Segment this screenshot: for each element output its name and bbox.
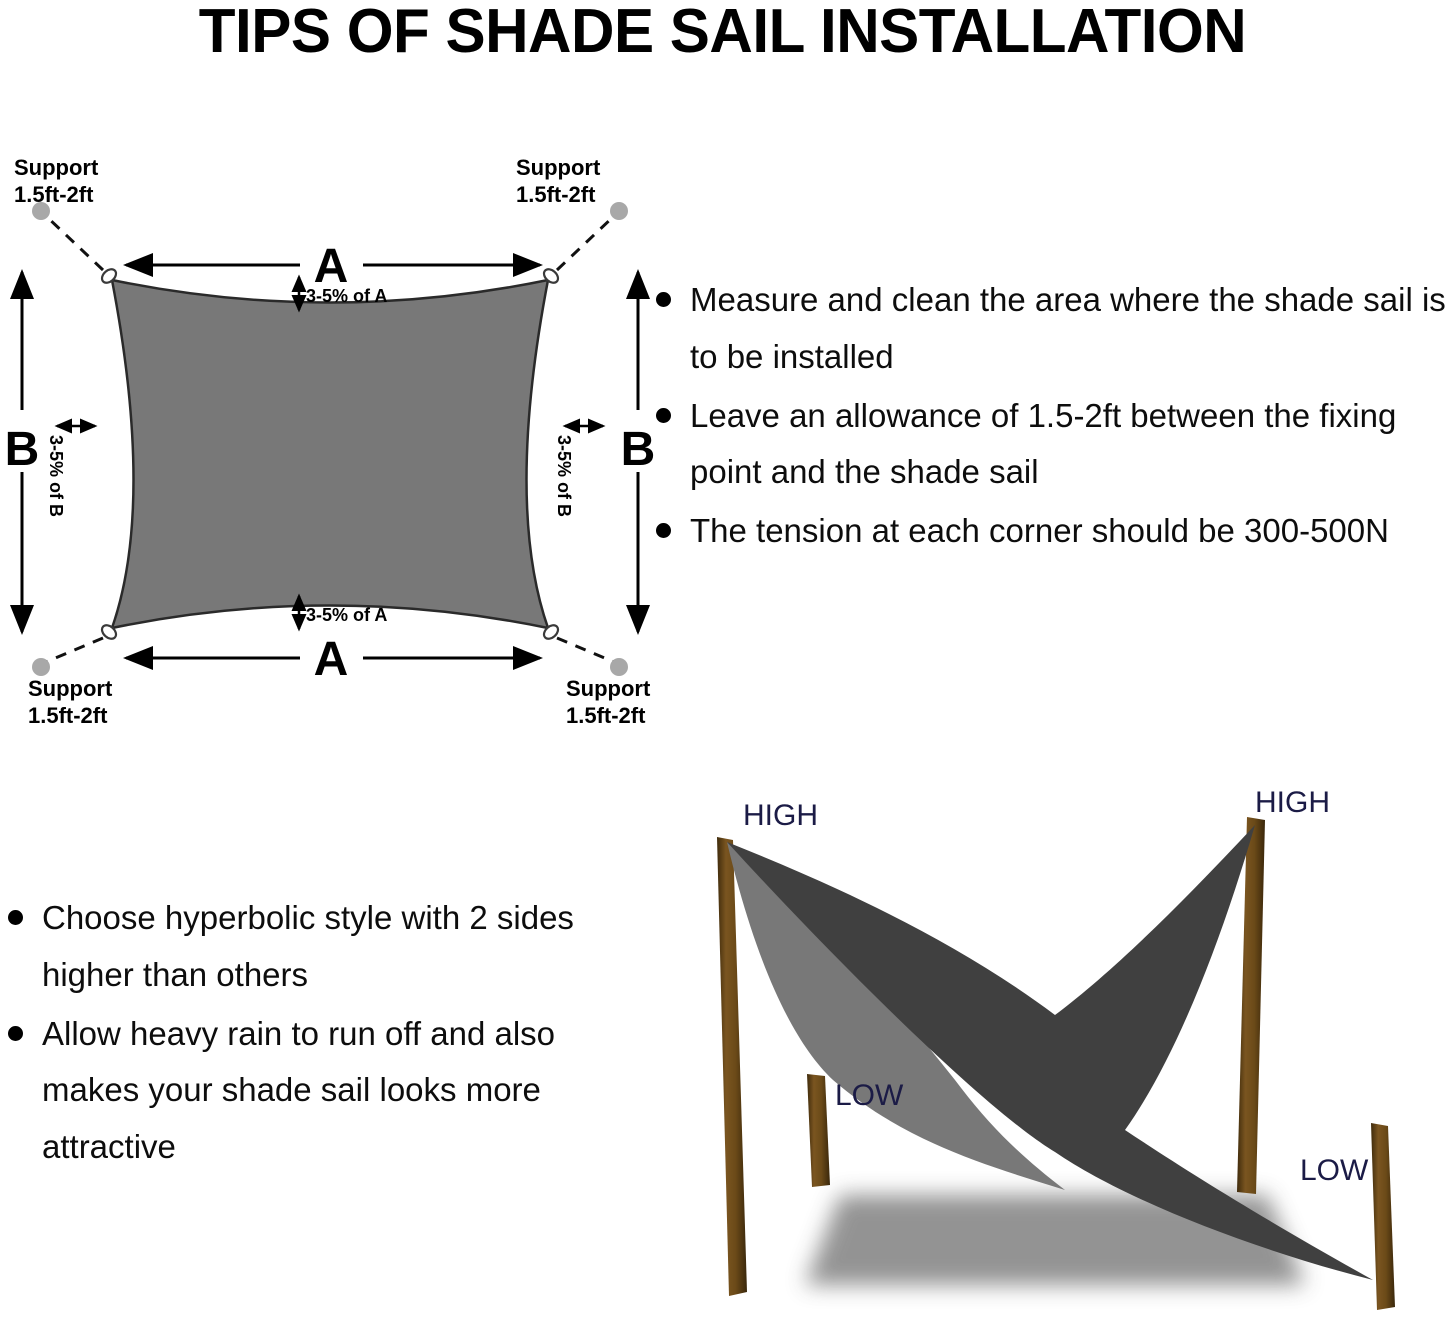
bullet-dot-icon bbox=[656, 408, 671, 423]
installation-tips-list-left: Choose hyperbolic style with 2 sides hig… bbox=[0, 890, 640, 1178]
bullet-dot-icon bbox=[656, 292, 671, 307]
list-item: Allow heavy rain to run off and also mak… bbox=[0, 1006, 640, 1176]
infographic-page: TIPS OF SHADE SAIL INSTALLATION bbox=[0, 0, 1445, 1319]
post-back-right bbox=[1368, 1123, 1397, 1310]
list-item-text: Allow heavy rain to run off and also mak… bbox=[42, 1015, 555, 1166]
shade-sail-dimension-diagram: Support 1.5ft-2ft Support 1.5ft-2ft Supp… bbox=[0, 150, 660, 740]
page-title: TIPS OF SHADE SAIL INSTALLATION bbox=[22, 0, 1424, 67]
list-item: Measure and clean the area where the sha… bbox=[648, 272, 1445, 386]
support-label-line2: 1.5ft-2ft bbox=[28, 703, 108, 728]
list-item: Choose hyperbolic style with 2 sides hig… bbox=[0, 890, 640, 1004]
hyperbolic-sail-illustration: HIGH HIGH LOW LOW bbox=[655, 780, 1445, 1319]
support-label-top-right: Support 1.5ft-2ft bbox=[516, 155, 601, 207]
list-item: The tension at each corner should be 300… bbox=[648, 503, 1445, 560]
support-label-line2: 1.5ft-2ft bbox=[14, 182, 94, 207]
support-label-line1: Support bbox=[566, 676, 651, 701]
list-item-text: Measure and clean the area where the sha… bbox=[690, 281, 1445, 375]
label-high-left: HIGH bbox=[743, 799, 818, 832]
support-label-line1: Support bbox=[14, 155, 99, 180]
support-label-top-left: Support 1.5ft-2ft bbox=[14, 155, 99, 207]
curve-depth-label-right: 3-5% of B bbox=[554, 435, 574, 517]
dimension-b-left: B bbox=[5, 272, 40, 632]
label-low-left: LOW bbox=[835, 1079, 904, 1112]
label-low-right: LOW bbox=[1300, 1154, 1369, 1187]
support-label-line1: Support bbox=[516, 155, 601, 180]
support-label-bottom-left: Support 1.5ft-2ft bbox=[28, 676, 113, 728]
installation-tips-list-right: Measure and clean the area where the sha… bbox=[648, 272, 1445, 562]
curve-depth-label-bottom: 3-5% of A bbox=[306, 605, 387, 625]
post-back-left bbox=[717, 837, 747, 1296]
dimension-a-bottom: A bbox=[126, 633, 540, 686]
curve-depth-left: 3-5% of B bbox=[46, 426, 95, 517]
list-item-text: Choose hyperbolic style with 2 sides hig… bbox=[42, 899, 574, 993]
list-item-text: The tension at each corner should be 300… bbox=[690, 512, 1389, 549]
bullet-dot-icon bbox=[656, 523, 671, 538]
label-high-right: HIGH bbox=[1255, 786, 1330, 819]
sail-shape bbox=[112, 280, 548, 628]
support-label-line2: 1.5ft-2ft bbox=[566, 703, 646, 728]
dimension-label-a-bottom: A bbox=[314, 633, 349, 686]
list-item-text: Leave an allowance of 1.5-2ft between th… bbox=[690, 397, 1396, 491]
dimension-label-b-left: B bbox=[5, 423, 40, 476]
bullet-dot-icon bbox=[8, 1026, 23, 1041]
curve-depth-label-top: 3-5% of A bbox=[306, 286, 387, 306]
post-low-left bbox=[807, 1074, 830, 1187]
support-label-line2: 1.5ft-2ft bbox=[516, 182, 596, 207]
bullet-dot-icon bbox=[8, 910, 23, 925]
curve-depth-right: 3-5% of B bbox=[554, 426, 603, 517]
list-item: Leave an allowance of 1.5-2ft between th… bbox=[648, 388, 1445, 502]
support-label-line1: Support bbox=[28, 676, 113, 701]
support-label-bottom-right: Support 1.5ft-2ft bbox=[566, 676, 651, 728]
curve-depth-label-left: 3-5% of B bbox=[46, 435, 66, 517]
